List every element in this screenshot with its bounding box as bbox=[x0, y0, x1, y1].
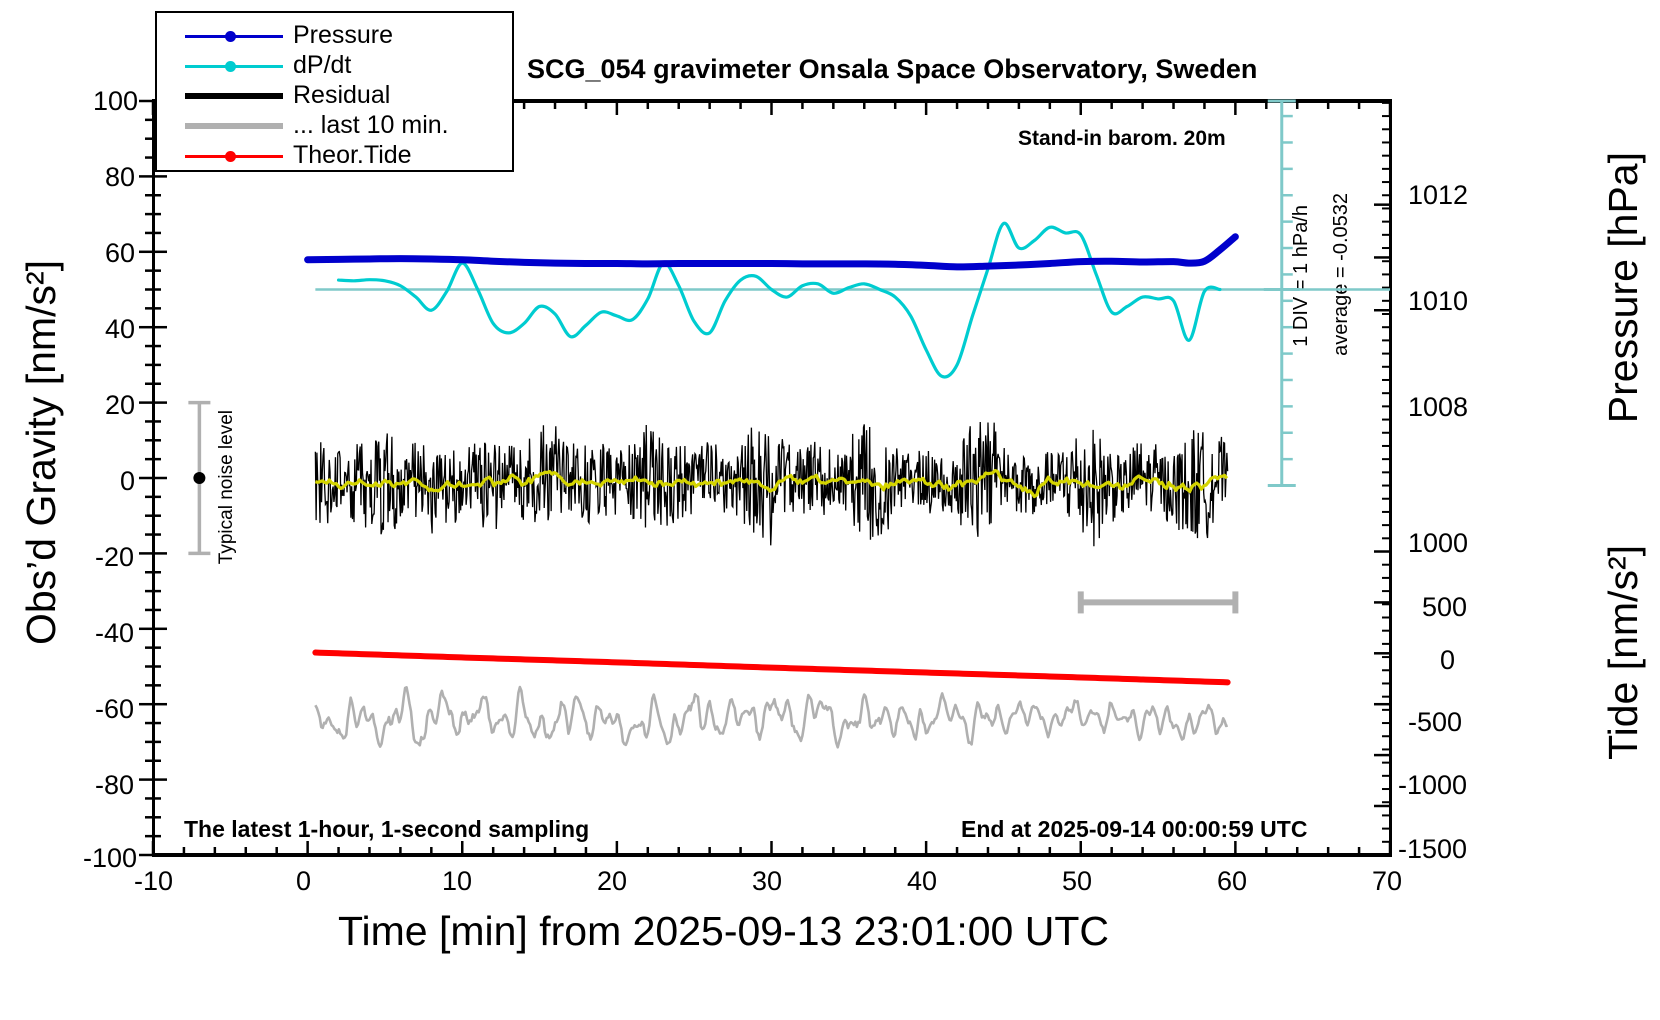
legend-item-tide[interactable]: Theor.Tide bbox=[157, 141, 512, 172]
legend-line-residual bbox=[185, 93, 283, 99]
legend-item-residual[interactable]: Residual bbox=[157, 81, 512, 112]
legend-line-last10 bbox=[185, 123, 283, 129]
series-theor-tide bbox=[315, 653, 1227, 683]
last-10-min-span-marker bbox=[1081, 591, 1236, 613]
series-pressure bbox=[308, 237, 1236, 267]
legend-marker-tide bbox=[225, 151, 236, 162]
series-dpdt bbox=[339, 223, 1220, 377]
gravimeter-monitor-plot: SCG_054 gravimeter Onsala Space Observat… bbox=[0, 0, 1660, 1020]
legend-item-pressure[interactable]: Pressure bbox=[157, 21, 512, 52]
legend-label-last10: ... last 10 min. bbox=[293, 111, 449, 140]
left-axis-ticks bbox=[139, 101, 167, 855]
legend-item-dpdt[interactable]: dP/dt bbox=[157, 51, 512, 82]
legend-marker-dpdt bbox=[225, 61, 236, 72]
legend-label-pressure: Pressure bbox=[293, 21, 393, 50]
legend: Pressure dP/dt Residual ... last 10 min.… bbox=[155, 11, 514, 172]
legend-label-dpdt: dP/dt bbox=[293, 51, 351, 80]
typical-noise-level-marker bbox=[188, 403, 210, 554]
legend-label-tide: Theor.Tide bbox=[293, 141, 412, 170]
dpdt-scale-bar bbox=[1264, 101, 1300, 486]
legend-label-residual: Residual bbox=[293, 81, 390, 110]
right-axis-ticks bbox=[1374, 103, 1390, 855]
legend-marker-pressure bbox=[225, 31, 236, 42]
legend-item-last10[interactable]: ... last 10 min. bbox=[157, 111, 512, 142]
series-last10-min bbox=[315, 687, 1227, 747]
bottom-axis-ticks bbox=[153, 841, 1390, 855]
